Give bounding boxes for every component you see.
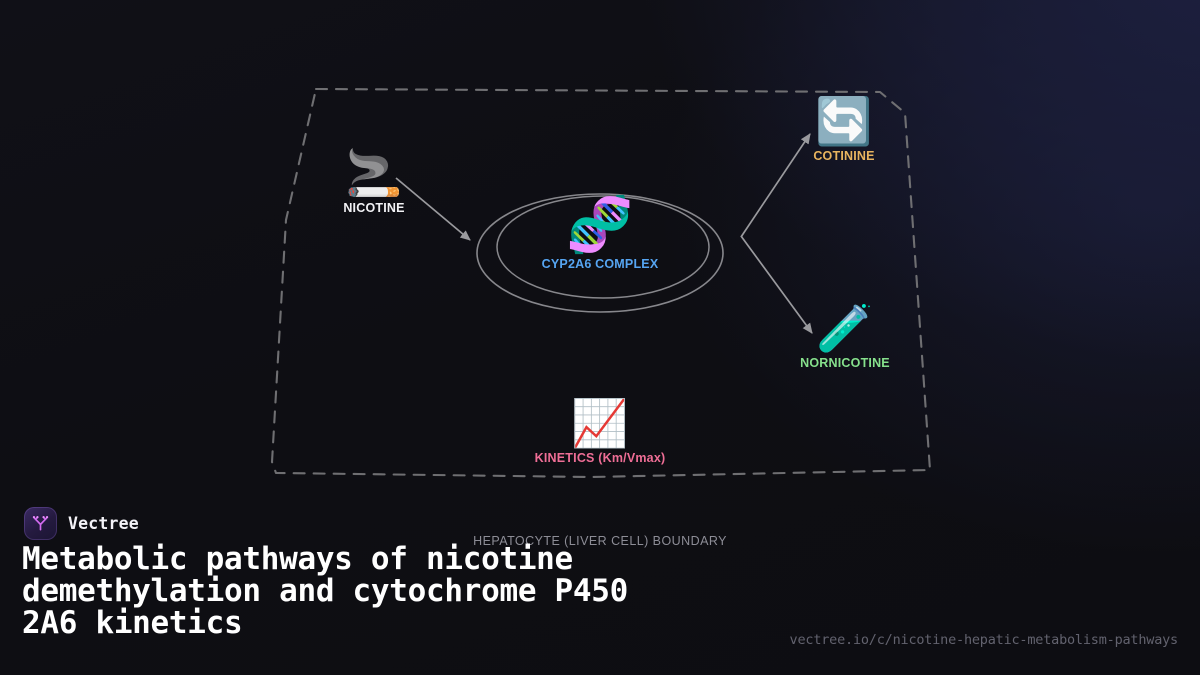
source-url: vectree.io/c/nicotine-hepatic-metabolism…	[790, 632, 1178, 648]
node-label-nornicotine: NORNICOTINE	[775, 356, 915, 370]
screenshot-canvas: 🚬 NICOTINE 🧬 CYP2A6 COMPLEX 🔄 COTININE 🧪…	[0, 0, 1200, 675]
dna-icon: 🧬	[530, 198, 670, 252]
test-tube-icon: 🧪	[775, 305, 915, 351]
footer: Vectree Metabolic pathways of nicotine d…	[0, 495, 1200, 675]
node-nornicotine[interactable]: 🧪 NORNICOTINE	[775, 305, 915, 370]
node-cyp2a6[interactable]: 🧬 CYP2A6 COMPLEX	[530, 198, 670, 271]
node-label-kinetics: KINETICS (Km/Vmax)	[500, 451, 700, 465]
arrows-counterclockwise-icon: 🔄	[774, 98, 914, 144]
node-label-cotinine: COTININE	[774, 149, 914, 163]
node-kinetics[interactable]: 📈 KINETICS (Km/Vmax)	[500, 400, 700, 465]
chart-increasing-icon: 📈	[500, 400, 700, 446]
page-title: Metabolic pathways of nicotine demethyla…	[22, 543, 782, 639]
node-label-nicotine: NICOTINE	[304, 201, 444, 215]
vectree-logo-glyph	[30, 513, 51, 534]
node-cotinine[interactable]: 🔄 COTININE	[774, 98, 914, 163]
node-label-cyp2a6: CYP2A6 COMPLEX	[530, 257, 670, 271]
brand: Vectree	[24, 507, 139, 540]
vectree-tree-logo	[24, 507, 57, 540]
node-nicotine[interactable]: 🚬 NICOTINE	[304, 150, 444, 215]
brand-name: Vectree	[68, 514, 139, 533]
cigarette-icon: 🚬	[304, 150, 444, 196]
